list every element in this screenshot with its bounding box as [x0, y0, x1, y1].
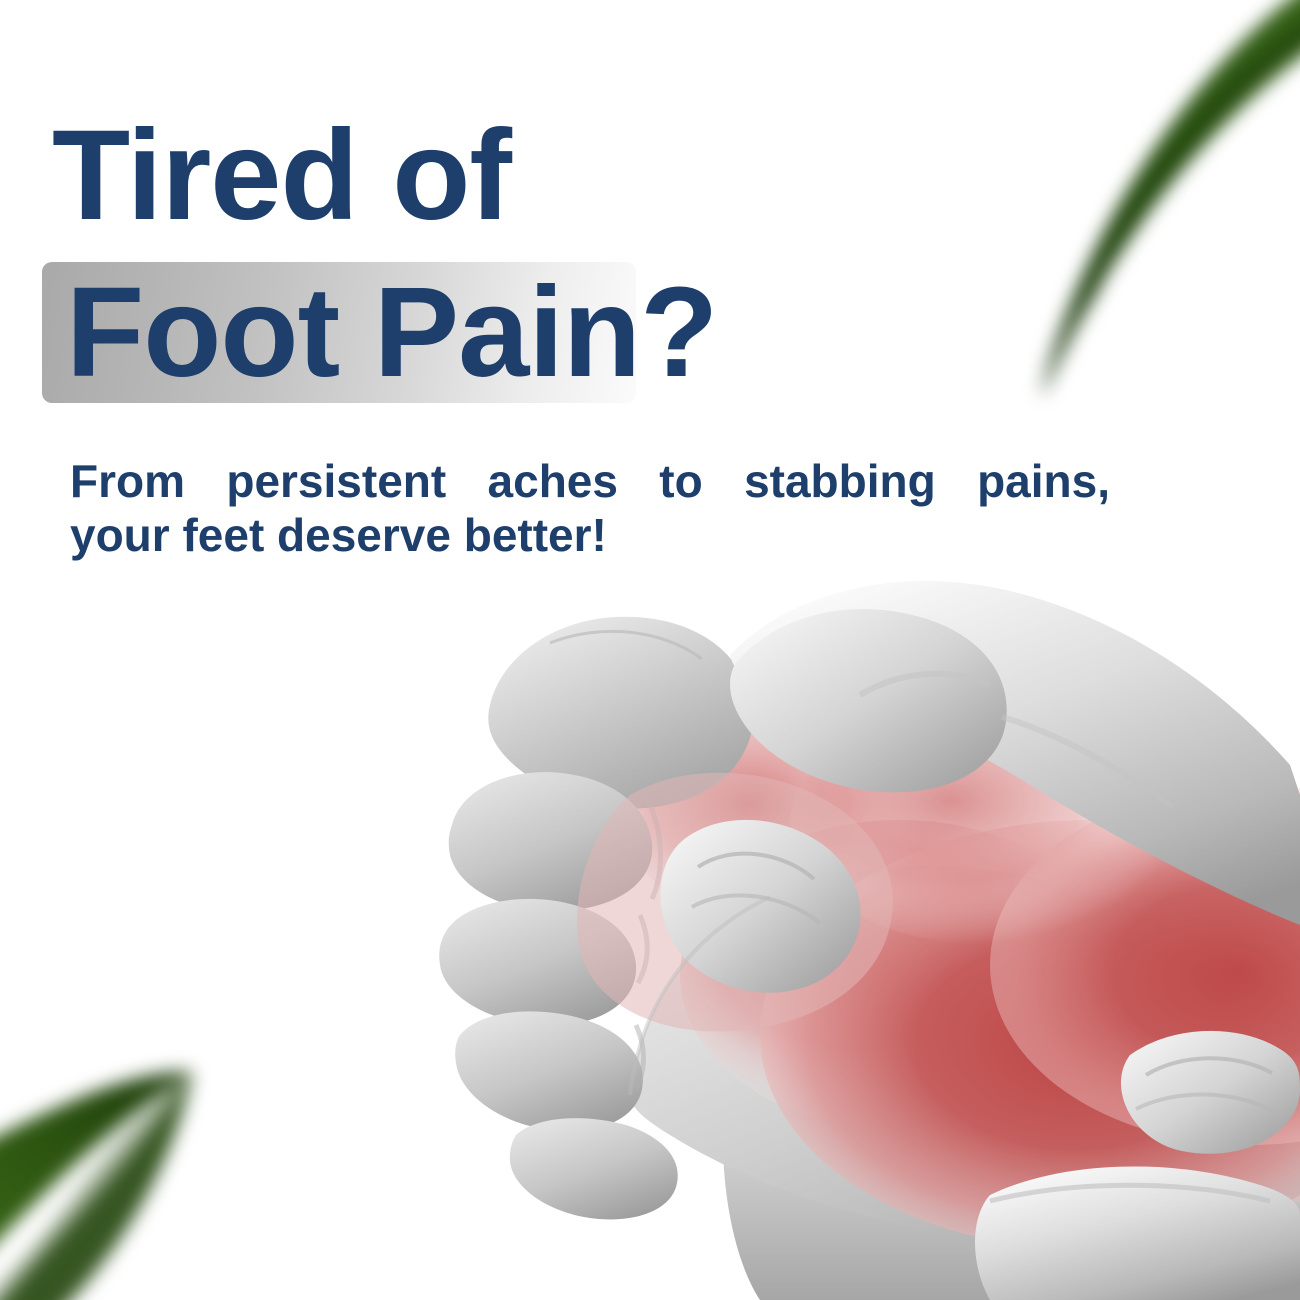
little-toe — [510, 1118, 678, 1219]
headline-block: Tired of Foot Pain? — [44, 112, 804, 403]
leaf-top-right-icon — [940, 0, 1300, 400]
foot-pain-photo — [430, 495, 1300, 1300]
leaf-bottom-left-icon — [0, 980, 280, 1300]
fourth-toe — [455, 1011, 643, 1131]
headline-line-2: Foot Pain? — [44, 262, 741, 403]
headline-line-1: Tired of — [44, 112, 804, 240]
promo-banner: Tired of Foot Pain? From persistent ache… — [0, 0, 1300, 1300]
headline-highlight: Foot Pain? — [44, 262, 741, 403]
foot-pain-illustration — [430, 495, 1300, 1300]
